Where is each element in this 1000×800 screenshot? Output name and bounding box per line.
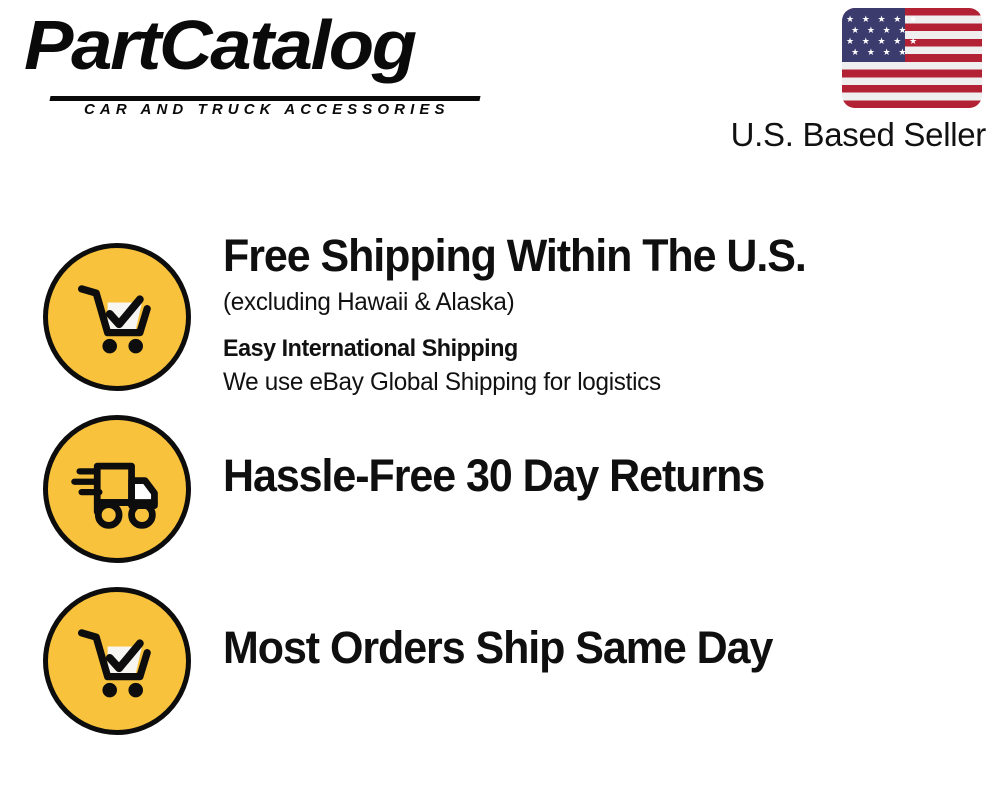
- feature-text-returns: Hassle-Free 30 Day Returns: [191, 400, 1000, 500]
- feature-row-free-shipping: Free Shipping Within The U.S. (excluding…: [0, 228, 1000, 400]
- page-header: PartCatalog CAR AND TRUCK ACCESSORIES ★ …: [0, 0, 1000, 175]
- seller-label: U.S. Based Seller: [716, 117, 986, 153]
- us-based-seller-badge: ★ ★ ★ ★ ★ ★ ★ ★ ★ ★ ★ ★ ★ ★ ★ ★ ★ ★ U.S.…: [716, 8, 986, 153]
- logo-wordmark: PartCatalog: [24, 10, 415, 80]
- shopping-cart-check-icon: [43, 587, 191, 735]
- flag-stars: ★ ★ ★ ★ ★ ★ ★ ★ ★ ★ ★ ★ ★ ★ ★ ★ ★ ★: [842, 8, 905, 62]
- feature-title: Most Orders Ship Same Day: [223, 624, 965, 672]
- feature-title: Free Shipping Within The U.S.: [223, 232, 965, 280]
- feature-row-returns: Hassle-Free 30 Day Returns: [0, 400, 1000, 572]
- us-flag-icon: ★ ★ ★ ★ ★ ★ ★ ★ ★ ★ ★ ★ ★ ★ ★ ★ ★ ★: [842, 8, 982, 108]
- feature-text-free-shipping: Free Shipping Within The U.S. (excluding…: [191, 228, 1000, 398]
- brand-logo[interactable]: PartCatalog CAR AND TRUCK ACCESSORIES: [24, 16, 494, 116]
- feature-list: Free Shipping Within The U.S. (excluding…: [0, 228, 1000, 742]
- feature-text-same-day-ship: Most Orders Ship Same Day: [191, 572, 1000, 672]
- feature-title: Hassle-Free 30 Day Returns: [223, 452, 965, 500]
- feature-subtitle-international: Easy International Shipping: [223, 334, 977, 365]
- feature-subtitle-logistics: We use eBay Global Shipping for logistic…: [223, 366, 977, 398]
- logo-tagline: CAR AND TRUCK ACCESSORIES: [84, 102, 450, 117]
- feature-subtitle-exclusions: (excluding Hawaii & Alaska): [223, 286, 977, 318]
- shopping-cart-check-icon: [43, 243, 191, 391]
- feature-row-same-day-ship: Most Orders Ship Same Day: [0, 572, 1000, 742]
- delivery-truck-icon: [43, 415, 191, 563]
